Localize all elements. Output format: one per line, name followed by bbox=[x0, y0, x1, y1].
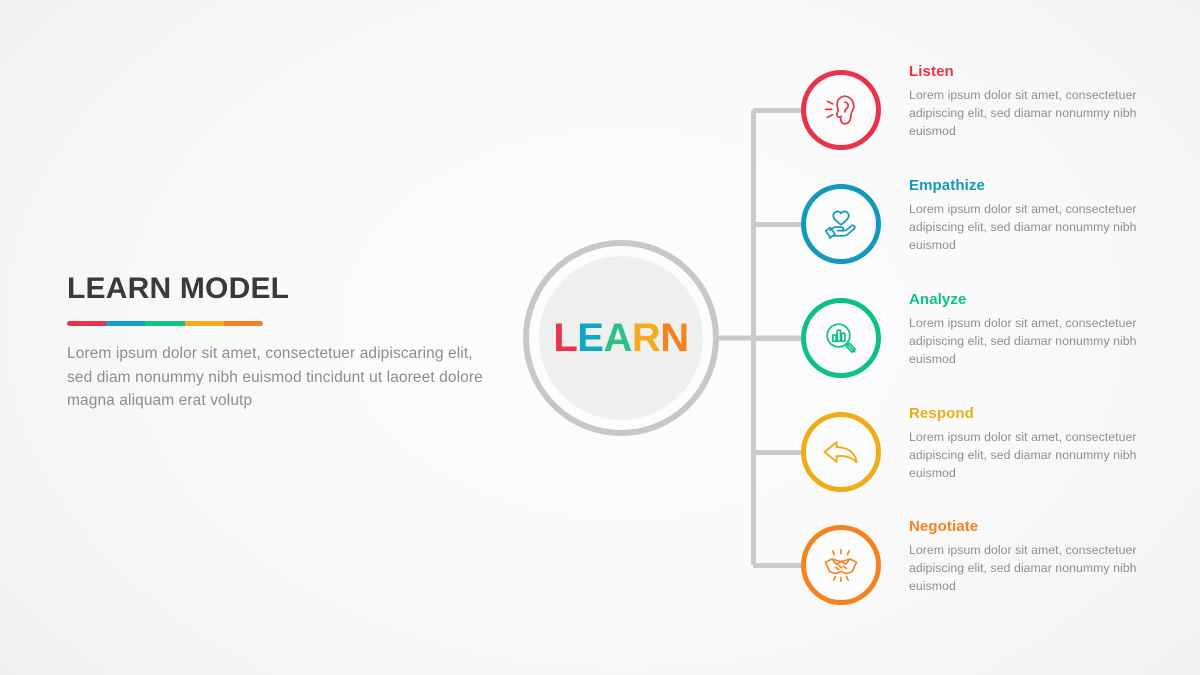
item-respond-title: Respond bbox=[909, 405, 1141, 423]
accent-segment-1 bbox=[67, 321, 106, 326]
hub-word-learn: LEARN bbox=[553, 318, 688, 358]
accent-segment-3 bbox=[145, 321, 184, 326]
hub-letter-n: N bbox=[660, 318, 688, 358]
accent-color-bar bbox=[67, 321, 263, 326]
item-analyze-circle[interactable] bbox=[801, 298, 881, 378]
item-analyze-desc: Lorem ipsum dolor sit amet, consectetuer… bbox=[909, 314, 1141, 369]
item-negotiate-desc: Lorem ipsum dolor sit amet, consectetuer… bbox=[909, 541, 1141, 596]
accent-segment-4 bbox=[185, 321, 224, 326]
item-negotiate-circle[interactable] bbox=[801, 525, 881, 605]
item-respond-circle[interactable] bbox=[801, 412, 881, 492]
accent-segment-2 bbox=[106, 321, 145, 326]
infographic-slide: LEARN MODEL Lorem ipsum dolor sit amet, … bbox=[0, 0, 1200, 675]
item-listen-text: Listen Lorem ipsum dolor sit amet, conse… bbox=[909, 63, 1141, 141]
handshake-icon bbox=[819, 543, 863, 587]
item-negotiate-text: Negotiate Lorem ipsum dolor sit amet, co… bbox=[909, 518, 1141, 596]
ear-icon bbox=[819, 88, 863, 132]
hub-letter-e: E bbox=[577, 318, 603, 358]
hub-letter-r: R bbox=[632, 318, 660, 358]
hub-inner-disc: LEARN bbox=[539, 256, 703, 420]
reply-arrow-icon bbox=[818, 429, 864, 475]
hub-letter-a: A bbox=[603, 318, 631, 358]
accent-segment-5 bbox=[224, 321, 263, 326]
magnifier-chart-icon bbox=[819, 316, 863, 360]
intro-paragraph: Lorem ipsum dolor sit amet, consectetuer… bbox=[67, 342, 487, 413]
center-hub: LEARN bbox=[523, 240, 719, 436]
item-listen-circle[interactable] bbox=[801, 70, 881, 150]
item-empathize-desc: Lorem ipsum dolor sit amet, consectetuer… bbox=[909, 200, 1141, 255]
item-negotiate-title: Negotiate bbox=[909, 518, 1141, 536]
item-analyze-text: Analyze Lorem ipsum dolor sit amet, cons… bbox=[909, 291, 1141, 369]
item-empathize-circle[interactable] bbox=[801, 184, 881, 264]
item-respond-desc: Lorem ipsum dolor sit amet, consectetuer… bbox=[909, 428, 1141, 483]
hand-heart-icon bbox=[819, 202, 863, 246]
item-empathize-text: Empathize Lorem ipsum dolor sit amet, co… bbox=[909, 177, 1141, 255]
hub-letter-l: L bbox=[553, 318, 577, 358]
item-respond[interactable]: Respond Lorem ipsum dolor sit amet, cons… bbox=[801, 412, 1141, 492]
item-empathize[interactable]: Empathize Lorem ipsum dolor sit amet, co… bbox=[801, 184, 1141, 264]
item-listen-desc: Lorem ipsum dolor sit amet, consectetuer… bbox=[909, 86, 1141, 141]
item-empathize-title: Empathize bbox=[909, 177, 1141, 195]
item-negotiate[interactable]: Negotiate Lorem ipsum dolor sit amet, co… bbox=[801, 525, 1141, 605]
item-respond-text: Respond Lorem ipsum dolor sit amet, cons… bbox=[909, 405, 1141, 483]
intro-panel: LEARN MODEL Lorem ipsum dolor sit amet, … bbox=[67, 272, 497, 413]
item-analyze-title: Analyze bbox=[909, 291, 1141, 309]
item-analyze[interactable]: Analyze Lorem ipsum dolor sit amet, cons… bbox=[801, 298, 1141, 378]
item-listen[interactable]: Listen Lorem ipsum dolor sit amet, conse… bbox=[801, 70, 1141, 150]
page-title: LEARN MODEL bbox=[67, 272, 497, 305]
item-listen-title: Listen bbox=[909, 63, 1141, 81]
